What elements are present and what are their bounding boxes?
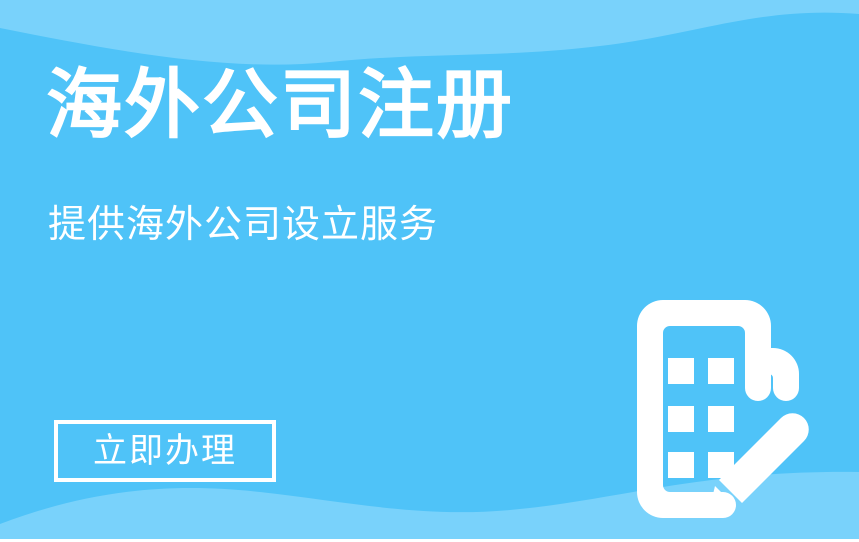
- apply-now-button[interactable]: 立即办理: [54, 420, 276, 482]
- banner-content: 海外公司注册 提供海外公司设立服务 立即办理: [0, 0, 859, 542]
- window-1: [668, 358, 694, 384]
- apply-now-button-label: 立即办理: [93, 434, 237, 468]
- window-2: [708, 358, 734, 384]
- window-5: [668, 452, 694, 478]
- banner-title: 海外公司注册: [46, 68, 514, 144]
- window-3: [668, 406, 694, 432]
- promo-banner: 海外公司注册 提供海外公司设立服务 立即办理: [0, 0, 859, 542]
- window-4: [708, 406, 734, 432]
- building-edit-icon: [605, 300, 815, 525]
- banner-subtitle: 提供海外公司设立服务: [48, 206, 438, 244]
